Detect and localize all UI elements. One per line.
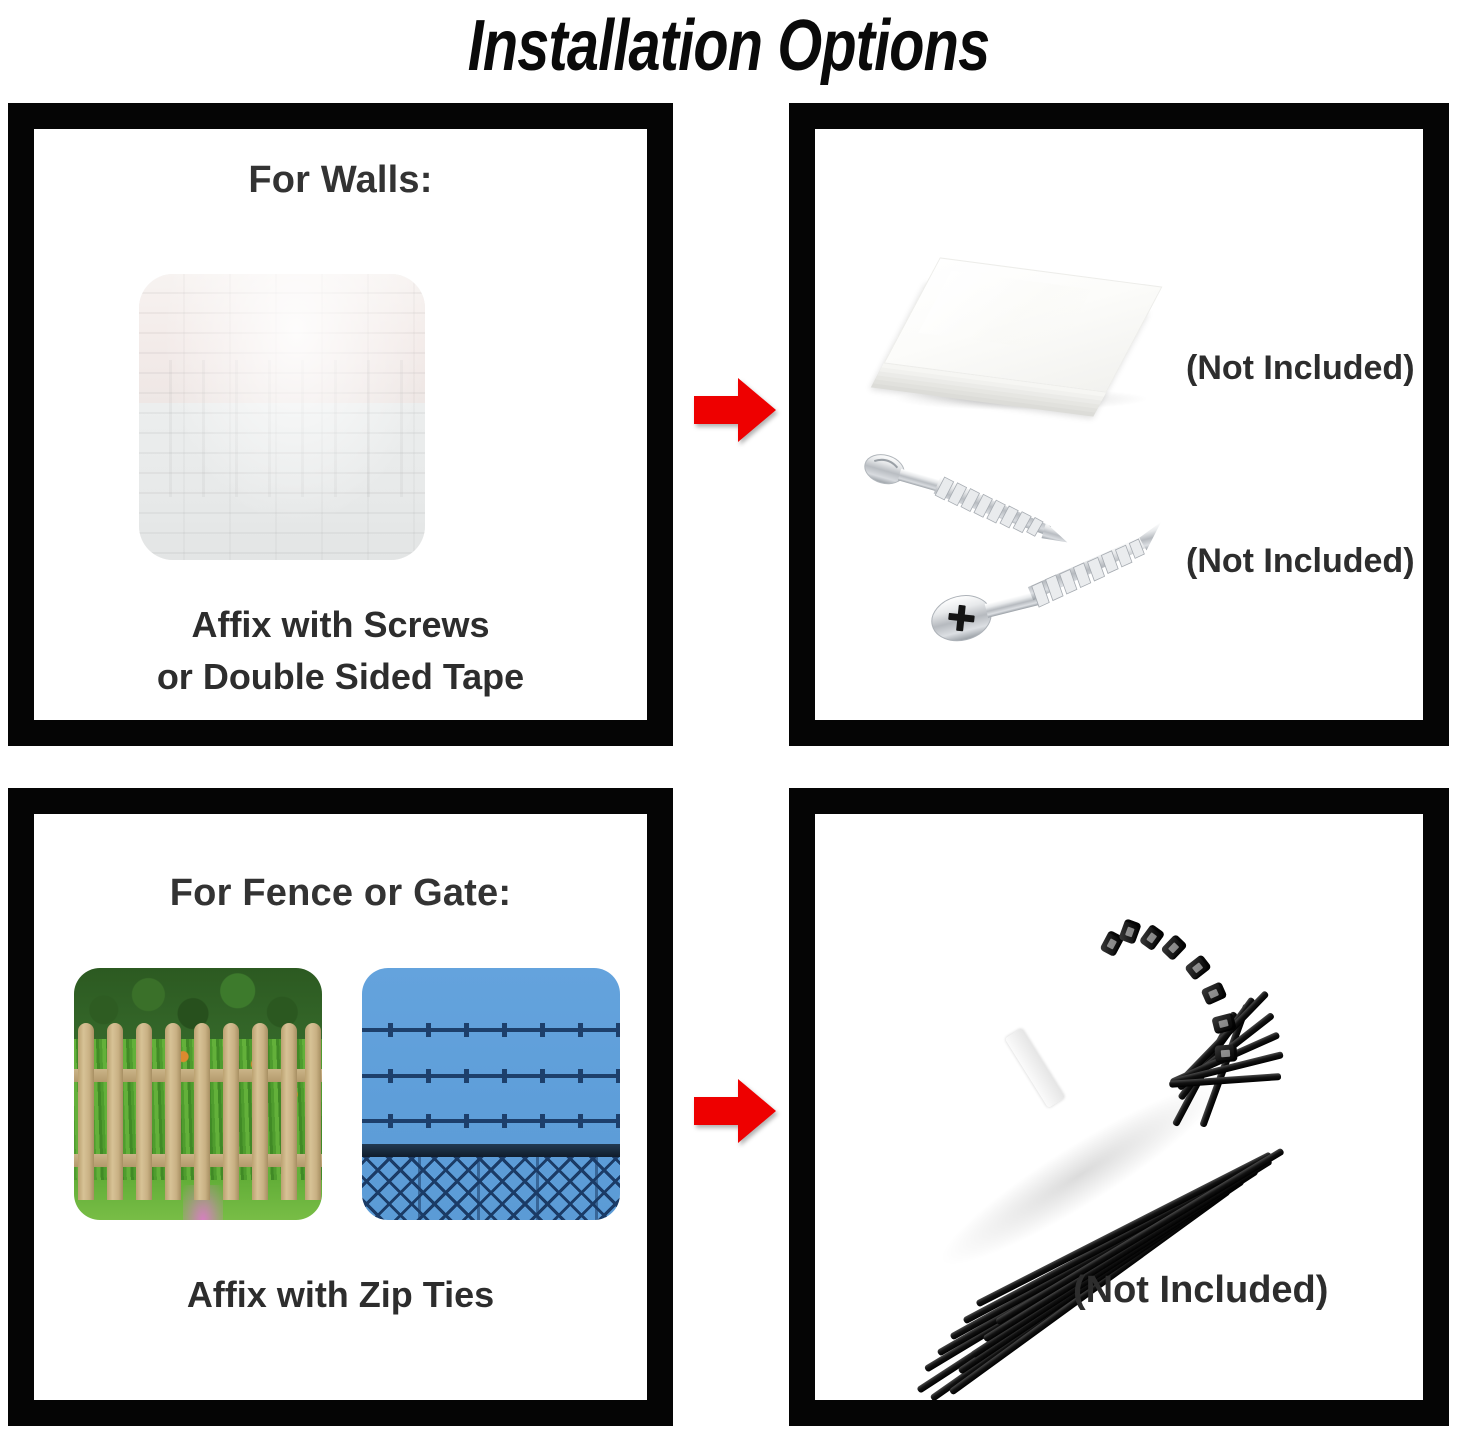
panel-for-fence-heading: For Fence or Gate: bbox=[34, 872, 647, 915]
caption-line-2: or Double Sided Tape bbox=[34, 651, 647, 703]
panel-wall-fixings: (Not Included) bbox=[789, 103, 1449, 746]
white-brick-wall-photo bbox=[139, 274, 425, 560]
wooden-picket-fence-photo bbox=[74, 968, 322, 1220]
zip-tie-binding-band bbox=[1005, 1028, 1065, 1108]
caption-line-1: Affix with Screws bbox=[34, 599, 647, 651]
zip-ties-not-included-label: (Not Included) bbox=[1073, 1269, 1328, 1312]
chain-link-barbed-wire-fence-photo bbox=[362, 968, 620, 1220]
panel-fence-fixings: (Not Included) bbox=[789, 788, 1449, 1426]
zip-ties-bundle-photo bbox=[855, 915, 1325, 1300]
panel-for-walls-caption: Affix with Screws or Double Sided Tape bbox=[34, 599, 647, 703]
page-title: Installation Options bbox=[146, 0, 1312, 92]
panel-for-walls: For Walls: Affix with Screws or Double S… bbox=[8, 103, 673, 746]
tape-not-included-label: (Not Included) bbox=[1186, 349, 1415, 388]
screws-not-included-label: (Not Included) bbox=[1186, 542, 1415, 581]
panel-for-walls-heading: For Walls: bbox=[34, 159, 647, 202]
panel-for-fence-or-gate: For Fence or Gate: bbox=[8, 788, 673, 1426]
double-sided-tape-stack-photo bbox=[888, 264, 1164, 424]
red-right-arrow bbox=[694, 378, 776, 442]
panel-for-fence-caption: Affix with Zip Ties bbox=[34, 1269, 647, 1321]
red-right-arrow bbox=[694, 1079, 776, 1143]
